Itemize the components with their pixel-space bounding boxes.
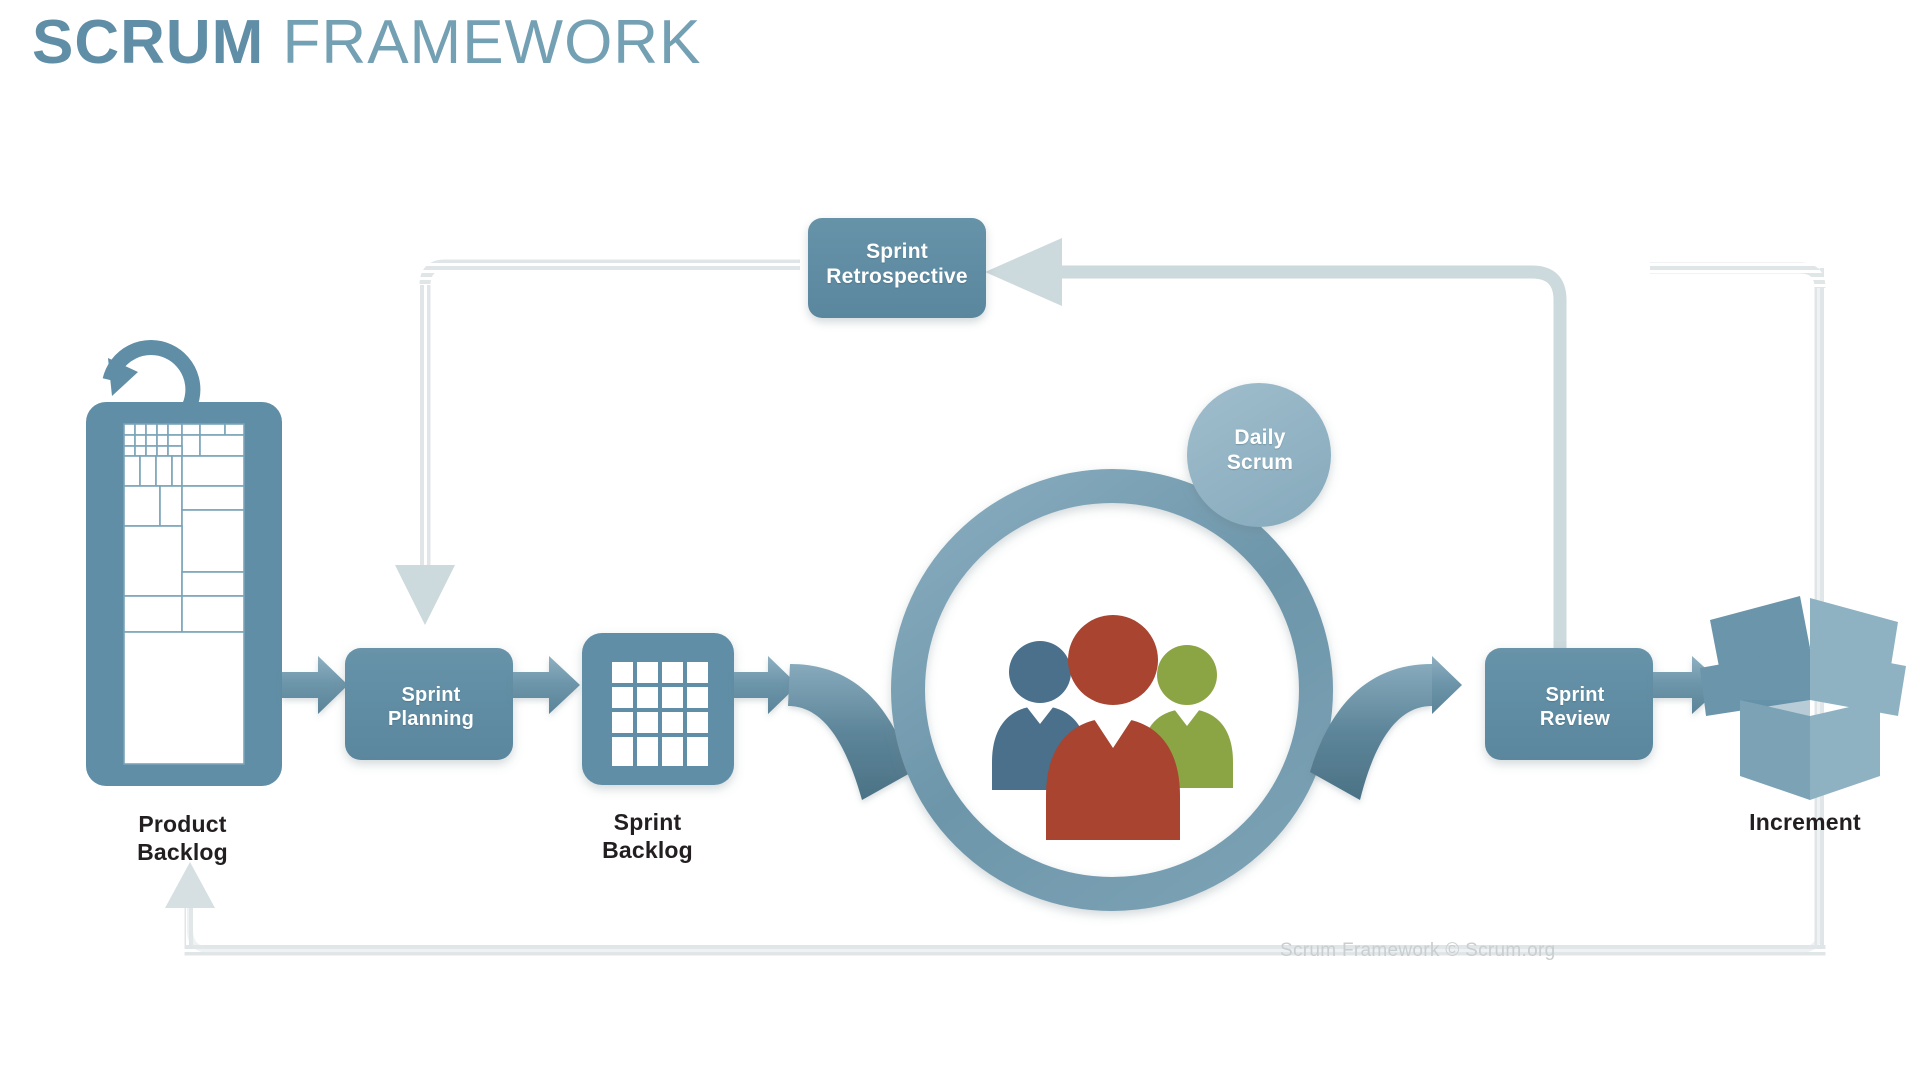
daily-scrum-node[interactable] [1187,383,1331,527]
connector-sprint-backlog-to-team [734,656,912,800]
sprint-planning-node[interactable] [345,648,513,760]
connector-retrospective-to-planning [395,265,800,625]
connector-backlog-to-planning [282,656,348,714]
product-backlog-node[interactable] [86,348,282,786]
arrowhead-down [395,565,455,625]
product-caption-line1: Product [138,811,226,837]
product-backlog-caption: Product Backlog [60,810,305,866]
sprint-backlog-node[interactable] [582,633,734,785]
product-caption-line2: Backlog [137,839,228,865]
backlog-cells [124,424,244,764]
increment-node[interactable] [1700,596,1906,800]
diagram-artwork: 1 Scrum Team [0,0,1920,1080]
open-box-icon [1700,596,1906,800]
increment-caption: Increment [1680,808,1920,836]
arrowhead-up [165,862,215,908]
sprint-review-node[interactable] [1485,648,1653,760]
copyright-notice: Scrum Framework © Scrum.org [1280,940,1555,962]
scrum-team-node[interactable]: 1 Scrum Team [908,486,1316,948]
arrowhead-left [985,238,1062,306]
sprint-backlog-caption-line1: Sprint [614,809,682,835]
sprint-retrospective-node[interactable] [808,218,986,318]
three-people-icon [992,615,1233,840]
connector-team-to-review [1310,656,1462,800]
sprint-backlog-caption-line2: Backlog [602,837,693,863]
sprint-backlog-caption: Sprint Backlog [540,808,755,864]
scrum-framework-diagram: SCRUM FRAMEWORK [0,0,1920,1080]
connector-planning-to-sprint-backlog [513,656,580,714]
